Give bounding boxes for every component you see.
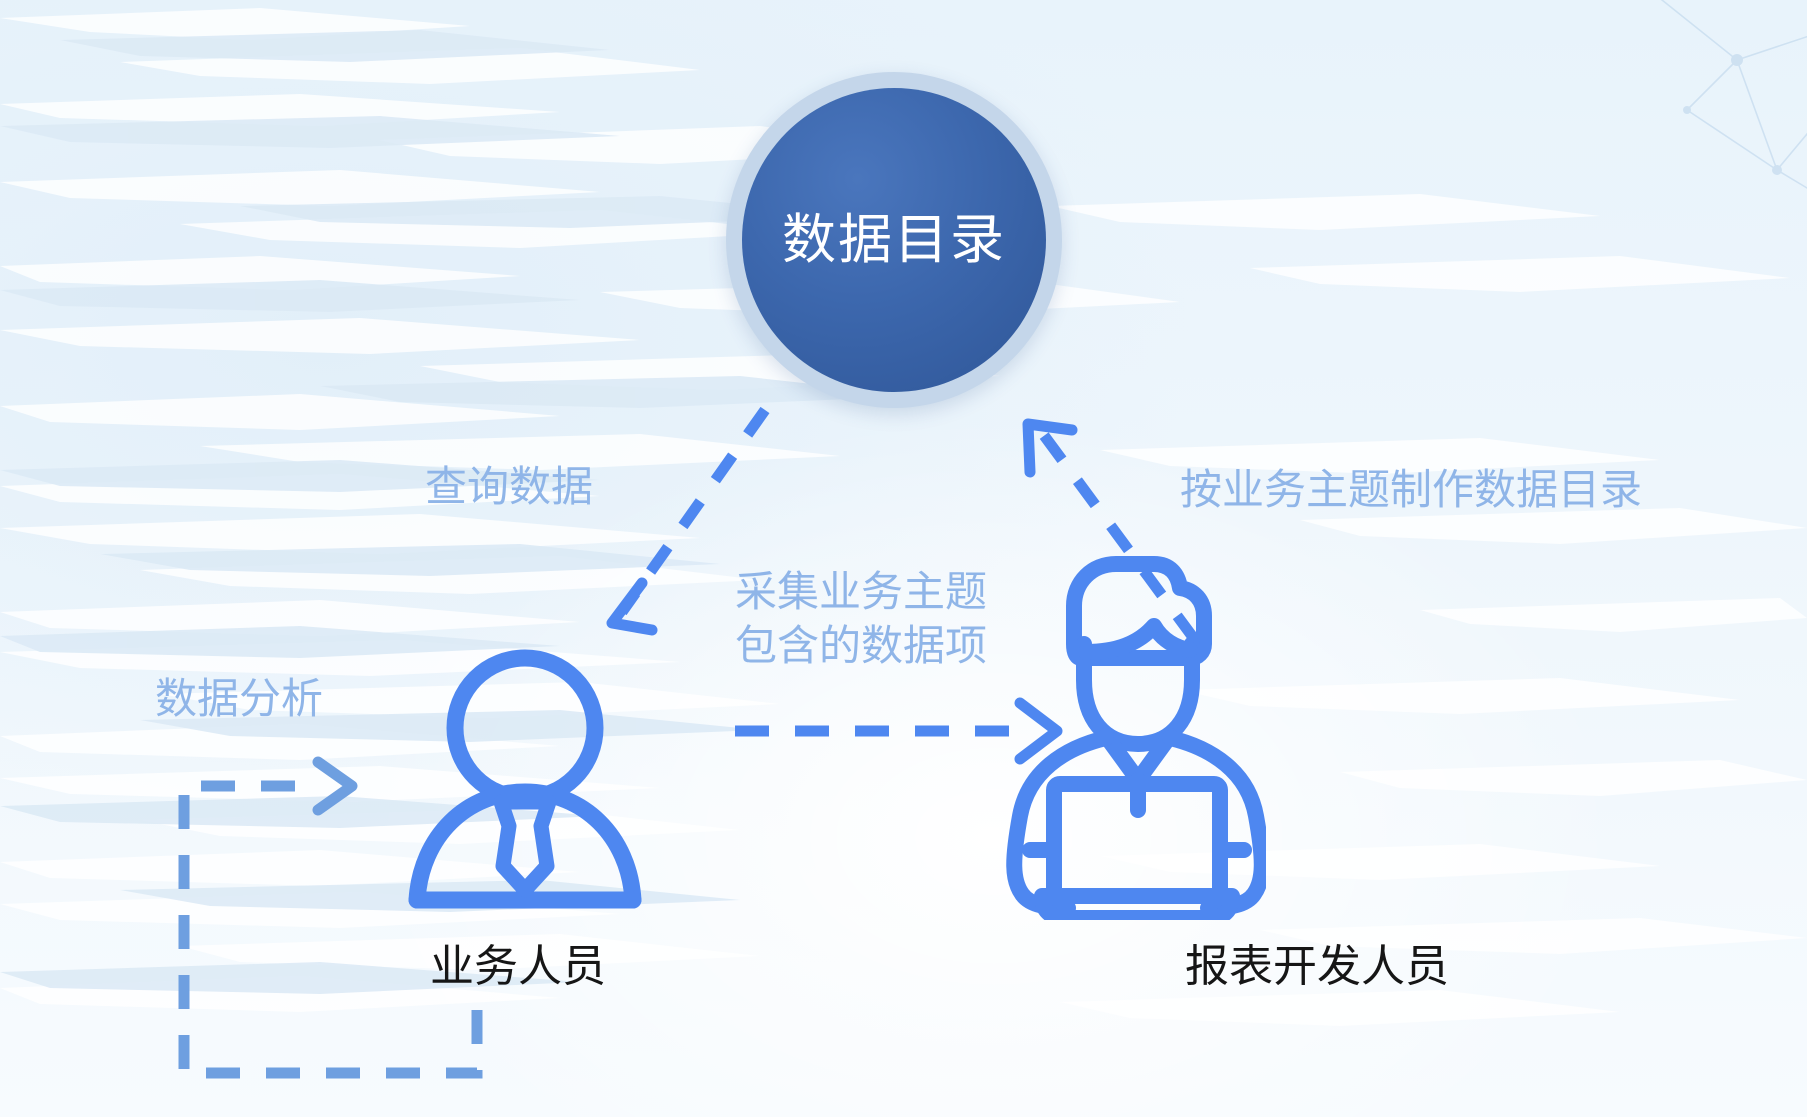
edge-label-collect-items-line1: 采集业务主题 <box>735 565 987 619</box>
edge-label-data-analysis: 数据分析 <box>155 672 323 726</box>
developer-with-laptop-icon[interactable] <box>998 548 1266 920</box>
data-catalog-node-label: 数据目录 <box>782 213 1006 267</box>
diagram-canvas: 数据目录 <box>0 0 1807 1117</box>
edge-label-collect-items: 采集业务主题 包含的数据项 <box>735 565 987 673</box>
edge-label-query-data: 查询数据 <box>425 460 593 514</box>
data-catalog-node[interactable]: 数据目录 <box>742 88 1046 392</box>
actor-label-developer: 报表开发人员 <box>1185 930 1449 994</box>
person-with-tie-icon[interactable] <box>395 648 655 918</box>
edge-label-build-catalog: 按业务主题制作数据目录 <box>1180 463 1642 517</box>
edge-label-collect-items-line2: 包含的数据项 <box>735 619 987 673</box>
actor-label-business: 业务人员 <box>430 930 606 994</box>
